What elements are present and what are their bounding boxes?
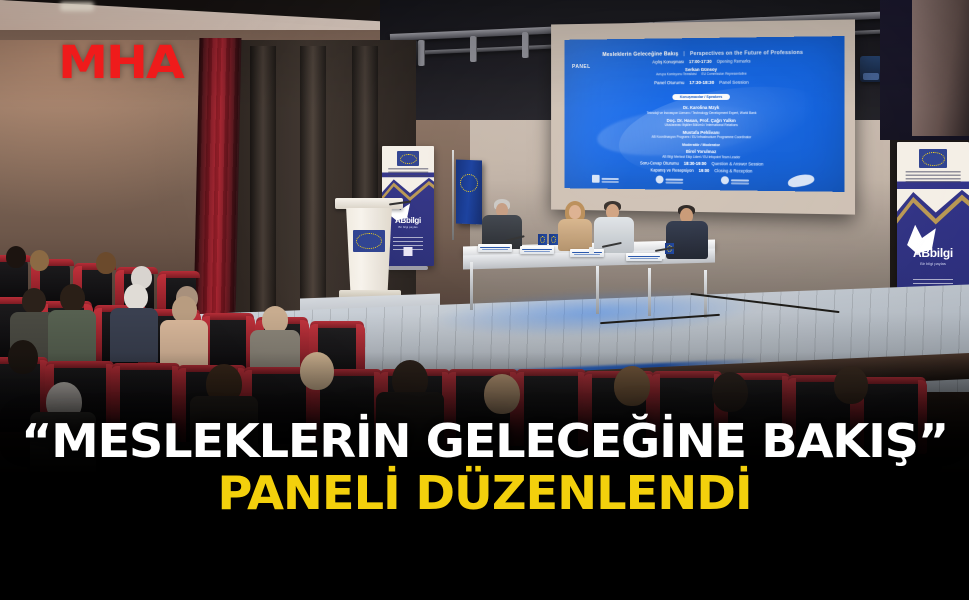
- audience-torso: [48, 310, 96, 364]
- eu-flag: [456, 160, 482, 225]
- flag-pole: [452, 150, 454, 240]
- nameplate-4: [626, 253, 662, 261]
- table-leg: [596, 266, 599, 314]
- partner-logo-1-icon: [592, 174, 619, 182]
- slide-closing-0-tr: Soru-Cevap Oturumu: [640, 162, 679, 167]
- slide-moderator-label: Moderatör / Moderator: [682, 143, 720, 147]
- slide-speaker-2: Doç. Dr. Hasan, Prof. Çağrı Yalkın: [667, 118, 736, 123]
- projection-screen: Mesleklerin Geleceğine Bakış | Perspecti…: [564, 36, 844, 192]
- audience-head: [8, 340, 38, 374]
- slide-speaker-3: Uluslararası İlişkiler Bölümü / Internat…: [665, 124, 738, 128]
- slide-title-tr: Mesleklerin Geleceğine Bakış: [602, 52, 678, 59]
- slide-row-0-en: Opening Remarks: [717, 59, 751, 64]
- right-wall-panel: [912, 0, 969, 136]
- audience-head: [22, 288, 46, 314]
- banner-brand-right: ABbilgi: [897, 246, 969, 260]
- slide-closing-0-en: Question & Answer Session: [711, 162, 763, 167]
- slide-panel-badge: PANEL: [572, 64, 591, 70]
- panelist-3-body: [594, 217, 634, 253]
- audience-head: [60, 284, 85, 312]
- podium-body: [343, 208, 395, 290]
- audience-head: [96, 252, 116, 274]
- mha-logo: MHA: [58, 40, 183, 85]
- truss-hook: [418, 40, 425, 66]
- panelist-2-head: [569, 205, 581, 219]
- audience-head: [300, 352, 334, 390]
- truss-hook: [470, 36, 477, 62]
- podium: [341, 198, 397, 306]
- audience-head: [172, 296, 197, 323]
- slide-row-2-en: EU Commission Representative: [701, 73, 746, 77]
- slide-title-en: Perspectives on the Future of Profession…: [690, 51, 803, 58]
- banner-caption-lines: [388, 168, 428, 177]
- audience-head: [30, 250, 49, 271]
- drape: [250, 46, 276, 346]
- banner-caption-lines: [906, 171, 961, 183]
- podium-eu-emblem-icon: [353, 230, 385, 252]
- ceiling-light: [60, 2, 94, 11]
- headline-line-2: PANELİ DÜZENLENDİ: [0, 469, 969, 517]
- audience-head: [614, 366, 650, 406]
- headline: “MESLEKLERİN GELECEĞİNE BAKIŞ” PANELİ DÜ…: [0, 418, 969, 517]
- water-bottle: [589, 247, 594, 254]
- slide-row-0-tr: Açılış Konuşması: [652, 60, 684, 65]
- mini-eu-flag: [538, 234, 547, 245]
- table-leg: [470, 262, 473, 310]
- water-bottle: [660, 252, 665, 259]
- audience-head: [712, 372, 748, 412]
- nameplate-1: [478, 244, 512, 252]
- slide-content: Mesleklerin Geleceğine Bakış | Perspecti…: [564, 36, 844, 192]
- partner-logo-2-icon: [656, 175, 683, 183]
- slide-row-2-tr: Avrupa Komisyonu Temsilcisi: [656, 73, 697, 77]
- slide-speaker-1: Teknoloji ve İnovasyon Uzmanı / Technolo…: [647, 112, 757, 116]
- slide-speaker-0: Dr. Karolina Mzyk: [683, 105, 719, 110]
- slide-speakers-pill: Konuşmacılar / Speakers: [672, 94, 730, 100]
- eu-emblem-icon: [397, 151, 419, 166]
- partner-logo-3-icon: [721, 176, 749, 184]
- slide-row-0-time: 17:00-17:30: [689, 60, 712, 65]
- headline-line-1: “MESLEKLERİN GELECEĞİNE BAKIŞ”: [0, 418, 969, 465]
- slide-moderator-title: AB Bilgi Merkezi Ekip Lideri / EU Infopo…: [662, 155, 740, 159]
- banner-qr-code: [404, 247, 413, 256]
- stage-light-blue: [860, 56, 882, 82]
- mini-eu-flag: [549, 234, 558, 245]
- slide-speaker-5: AB Koordinasyon Programı / EU Infrastruc…: [652, 136, 752, 140]
- audience-head: [834, 366, 868, 404]
- banner-brand-sub-right: Bir bilgi paylas: [897, 261, 969, 266]
- news-thumbnail: Mesleklerin Geleceğine Bakış | Perspecti…: [0, 0, 969, 600]
- nameplate-2: [520, 246, 554, 254]
- eu-emblem-icon: [919, 149, 947, 168]
- table-leg: [648, 268, 651, 316]
- panelist-2-body: [558, 219, 592, 251]
- audience-head: [484, 374, 520, 414]
- audience-torso: [110, 308, 158, 362]
- slide-moderator-name: Birol Yorulmaz: [686, 149, 716, 154]
- audience-head: [6, 246, 26, 268]
- abbilgi-logo-icon: [788, 175, 815, 186]
- nameplate-3: [570, 249, 604, 257]
- truss-hook: [522, 32, 529, 58]
- audience-head: [124, 284, 148, 310]
- slide-closing-0-time: 18:30-19:00: [684, 162, 707, 167]
